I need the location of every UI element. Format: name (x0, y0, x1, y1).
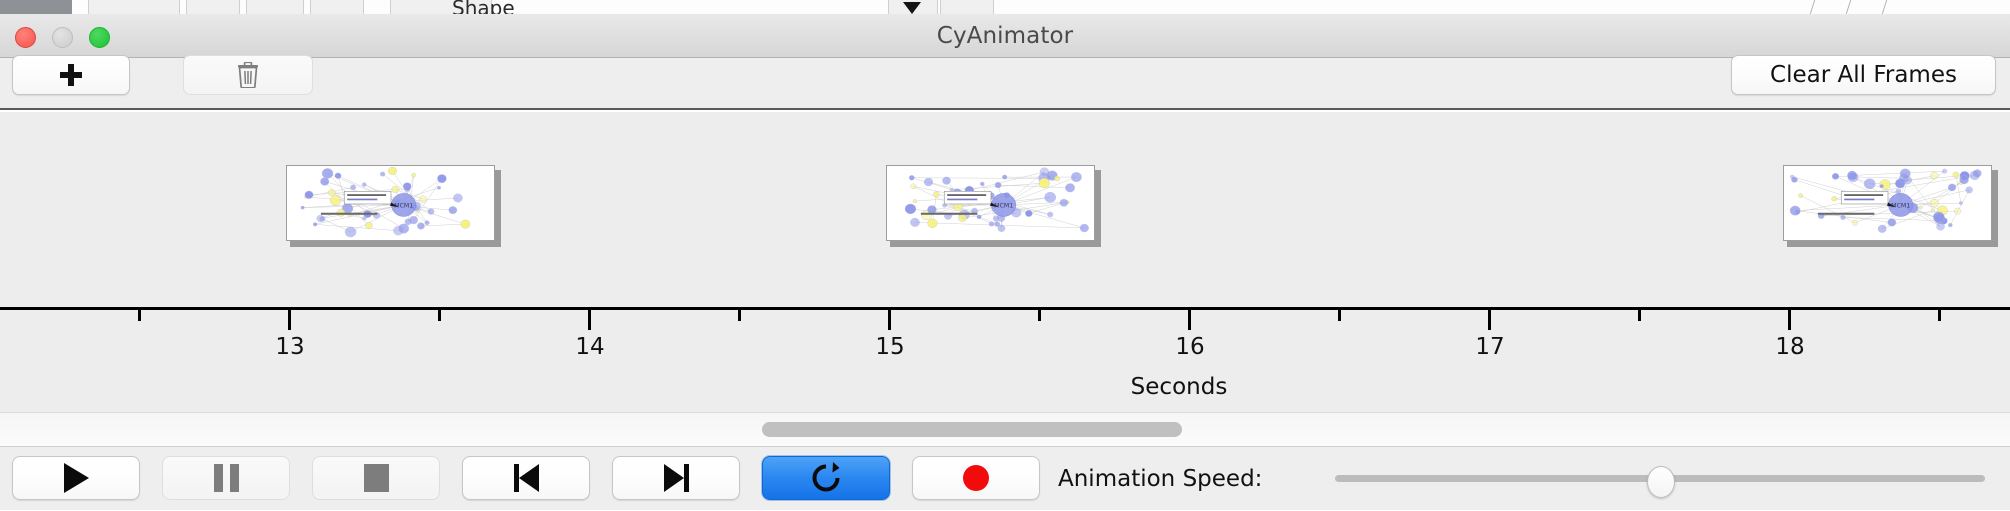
clear-all-frames-button[interactable]: Clear All Frames (1731, 55, 1996, 95)
loop-button[interactable] (762, 456, 890, 500)
axis-tick-label: 14 (575, 334, 604, 360)
delete-frame-button[interactable] (183, 55, 313, 95)
skip-forward-icon (664, 464, 689, 492)
background-toolbar-chip (186, 0, 240, 14)
frame-thumbnail[interactable]: MCM1 (286, 165, 495, 241)
background-divider (1810, 0, 1816, 14)
slider-thumb[interactable] (1647, 466, 1675, 498)
trash-icon (237, 62, 259, 88)
background-toolbar-chip (88, 0, 180, 14)
background-divider (1846, 0, 1852, 14)
axis-tick-label: 15 (875, 334, 904, 360)
axis-tick-major (288, 310, 291, 330)
axis-tick-minor (738, 310, 741, 321)
axis-tick-label: 17 (1475, 334, 1504, 360)
timeline-axis (0, 307, 2010, 310)
add-frame-button[interactable] (12, 55, 130, 95)
record-button[interactable] (912, 456, 1040, 500)
axis-tick-minor (1638, 310, 1641, 321)
timeline-frame[interactable]: MCM1 (1783, 165, 1998, 247)
axis-tick-label: 13 (275, 334, 304, 360)
background-toolbar-chip (246, 0, 304, 14)
pause-icon (214, 464, 239, 492)
record-icon (963, 465, 989, 491)
pause-button[interactable] (162, 456, 290, 500)
loop-icon (809, 461, 843, 495)
axis-tick-major (588, 310, 591, 330)
axis-title: Seconds (1131, 374, 1228, 400)
frame-thumbnail[interactable]: MCM1 (886, 165, 1095, 241)
axis-tick-label: 18 (1775, 334, 1804, 360)
timeline-frame[interactable]: MCM1 (286, 165, 501, 247)
animation-speed-label: Animation Speed: (1058, 447, 1262, 511)
animation-speed-slider[interactable] (1335, 447, 1985, 511)
svg-text:MCM1: MCM1 (1891, 202, 1910, 209)
clear-all-frames-label: Clear All Frames (1770, 62, 1957, 88)
axis-tick-major (888, 310, 891, 330)
plus-icon (59, 63, 83, 87)
background-cursor-icon (903, 2, 921, 14)
timeline-scrollbar[interactable] (0, 412, 2010, 446)
axis-tick-minor (1938, 310, 1941, 321)
cyanimator-window: Shape CyAnimator Clear All Frames MCM1MC… (0, 0, 2010, 510)
frame-thumbnail[interactable]: MCM1 (1783, 165, 1992, 241)
next-frame-button[interactable] (612, 456, 740, 500)
background-window-label: Shape (452, 0, 515, 15)
stop-icon (364, 464, 389, 492)
axis-tick-major (1488, 310, 1491, 330)
svg-text:MCM1: MCM1 (394, 202, 413, 209)
title-bar[interactable]: CyAnimator (0, 14, 2010, 58)
background-window-dark-chip (0, 0, 72, 14)
axis-tick-label: 16 (1175, 334, 1204, 360)
background-divider (1882, 0, 1888, 14)
timeline-panel[interactable]: MCM1MCM1MCM1 2131415161718 Seconds (0, 112, 2010, 412)
axis-tick-minor (138, 310, 141, 321)
stop-button[interactable] (312, 456, 440, 500)
axis-tick-major (1188, 310, 1191, 330)
play-icon (64, 463, 89, 493)
timeline-scrollbar-thumb[interactable] (762, 422, 1182, 437)
background-window-strip: Shape (0, 0, 2010, 15)
skip-back-icon (514, 464, 539, 492)
axis-tick-minor (1038, 310, 1041, 321)
svg-text:MCM1: MCM1 (994, 202, 1013, 209)
axis-tick-minor (1338, 310, 1341, 321)
background-toolbar-chip (940, 0, 994, 14)
axis-tick-minor (438, 310, 441, 321)
axis-tick-major (1788, 310, 1791, 330)
timeline-frame[interactable]: MCM1 (886, 165, 1101, 247)
play-button[interactable] (12, 456, 140, 500)
background-toolbar-chip (310, 0, 364, 14)
window-title: CyAnimator (0, 14, 2010, 58)
transport-bar: Animation Speed: (0, 446, 2010, 510)
previous-frame-button[interactable] (462, 456, 590, 500)
